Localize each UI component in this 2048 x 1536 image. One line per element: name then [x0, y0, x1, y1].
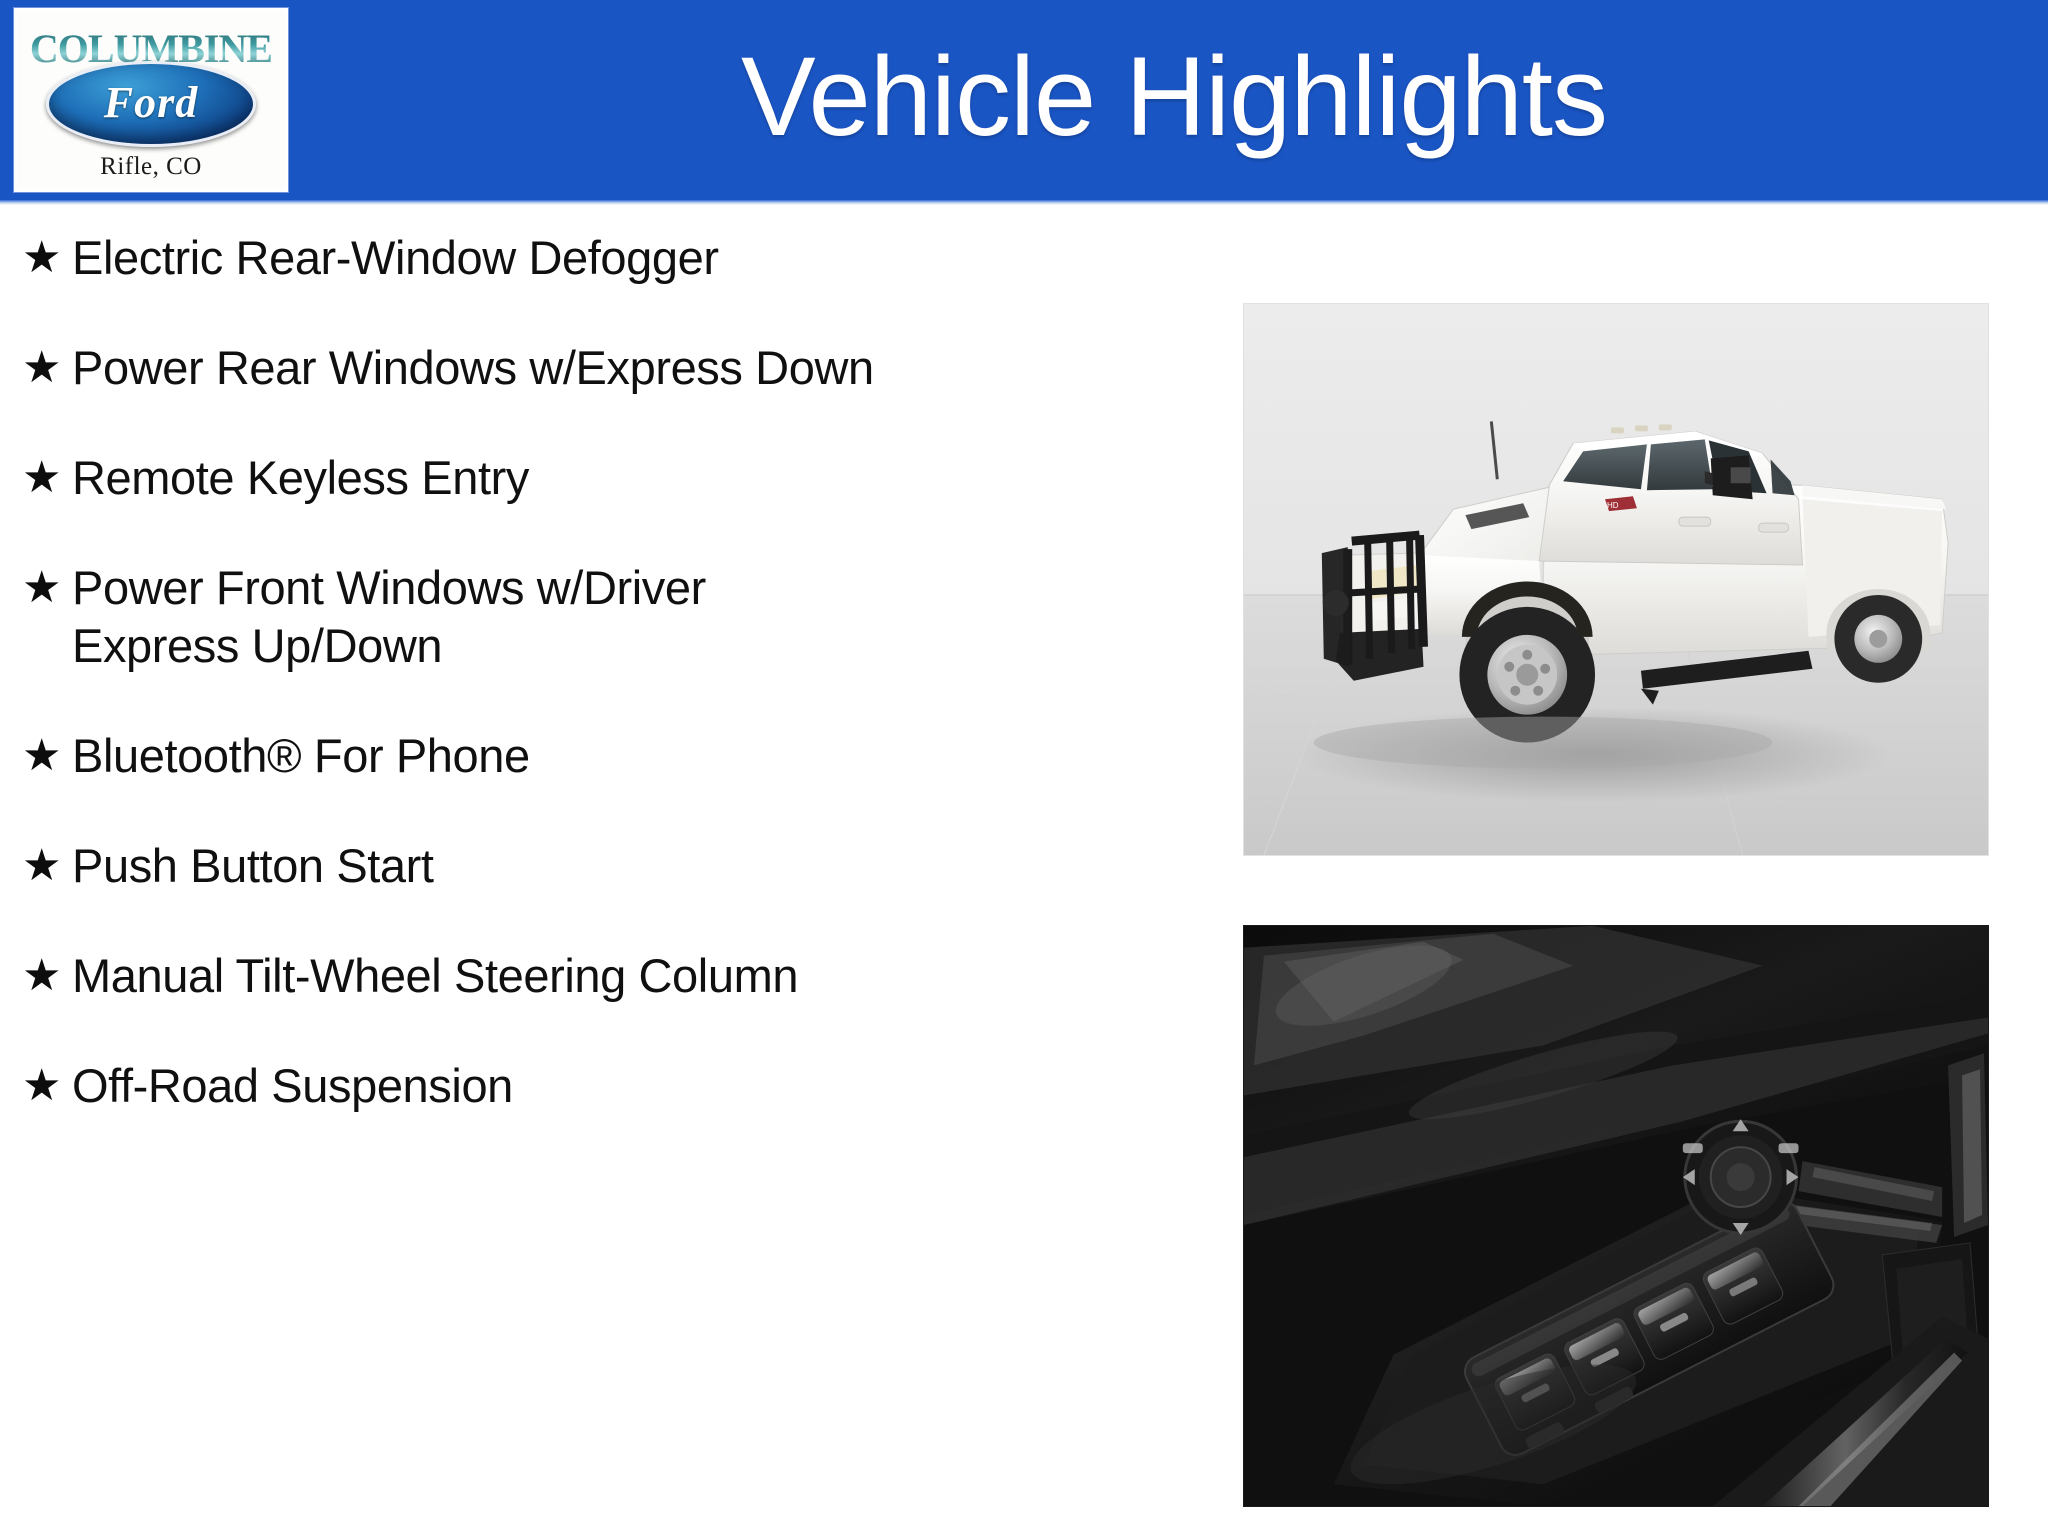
- star-icon: ★: [18, 837, 72, 895]
- list-item: ★ Bluetooth® For Phone: [18, 727, 1200, 785]
- list-item-label: Manual Tilt-Wheel Steering Column: [72, 947, 1200, 1005]
- star-icon: ★: [18, 559, 72, 617]
- ford-oval-logo: Ford: [46, 61, 256, 147]
- star-icon: ★: [18, 339, 72, 397]
- list-item-label: Remote Keyless Entry: [72, 449, 1200, 507]
- page-title: Vehicle Highlights: [300, 0, 2048, 200]
- dealer-city-text: Rifle, CO: [100, 153, 202, 181]
- list-item-label: Power Rear Windows w/Express Down: [72, 339, 1200, 397]
- list-item: ★ Off-Road Suspension: [18, 1057, 1200, 1115]
- page-header: COLUMBINE Ford Rifle, CO Vehicle Highlig…: [0, 0, 2048, 200]
- list-item: ★ Power Front Windows w/Driver Express U…: [18, 559, 1200, 675]
- star-icon: ★: [18, 947, 72, 1005]
- list-item-label: Electric Rear-Window Defogger: [72, 229, 1200, 287]
- vehicle-highlights-list: ★ Electric Rear-Window Defogger ★ Power …: [0, 215, 1200, 1535]
- interior-door-panel-photo[interactable]: [1243, 925, 1989, 1507]
- star-icon: ★: [18, 229, 72, 287]
- list-item: ★ Push Button Start: [18, 837, 1200, 895]
- list-item-label: Off-Road Suspension: [72, 1057, 1200, 1115]
- list-item: ★ Remote Keyless Entry: [18, 449, 1200, 507]
- truck-illustration: HD: [1244, 304, 1988, 855]
- list-item: ★ Power Rear Windows w/Express Down: [18, 339, 1200, 397]
- list-item-label: Bluetooth® For Phone: [72, 727, 1200, 785]
- svg-text:HD: HD: [1607, 501, 1619, 510]
- header-divider: [0, 200, 2048, 205]
- list-item-label: Push Button Start: [72, 837, 1200, 895]
- list-item-label: Power Front Windows w/Driver Express Up/…: [72, 559, 1200, 675]
- star-icon: ★: [18, 727, 72, 785]
- door-switches-illustration: [1244, 926, 1988, 1506]
- star-icon: ★: [18, 1057, 72, 1115]
- star-icon: ★: [18, 449, 72, 507]
- vehicle-exterior-photo[interactable]: HD: [1243, 303, 1989, 856]
- list-item: ★ Electric Rear-Window Defogger: [18, 229, 1200, 287]
- dealer-logo[interactable]: COLUMBINE Ford Rifle, CO: [14, 8, 288, 192]
- ford-script-text: Ford: [46, 59, 256, 145]
- list-item: ★ Manual Tilt-Wheel Steering Column: [18, 947, 1200, 1005]
